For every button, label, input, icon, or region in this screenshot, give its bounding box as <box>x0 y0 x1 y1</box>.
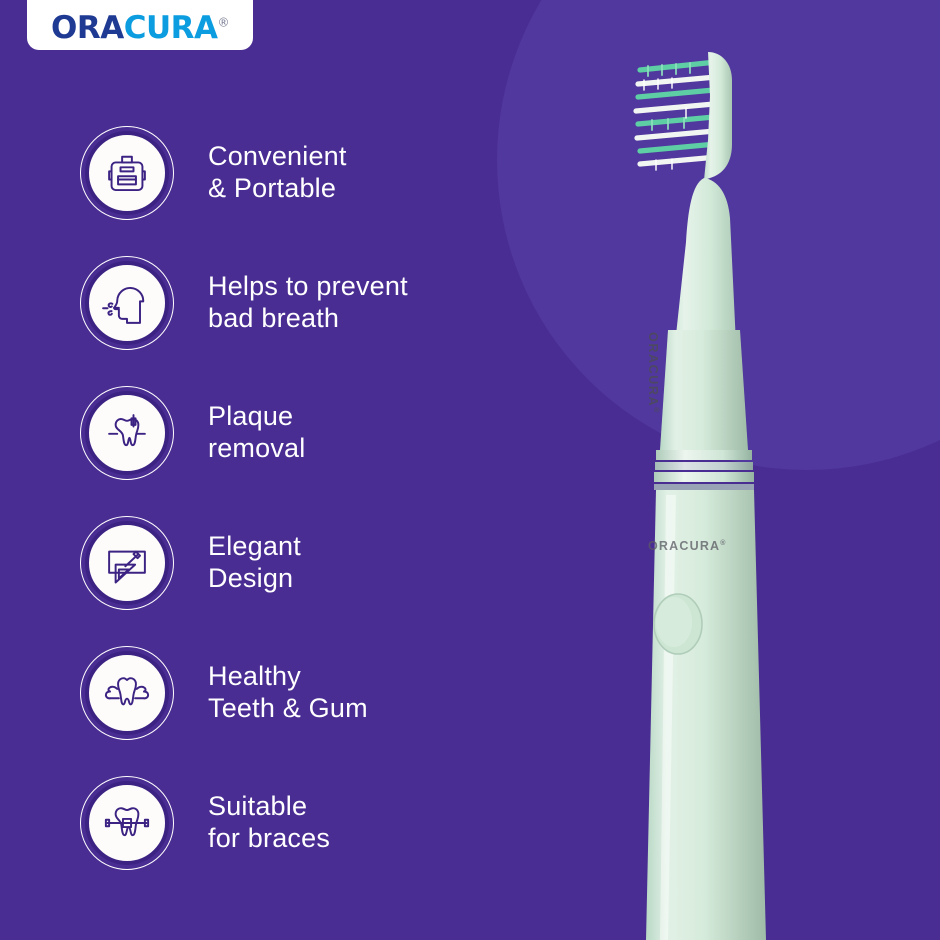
feature-item-suitable-for-braces: Suitable for braces <box>80 768 500 878</box>
feature-icon-wrap <box>80 126 174 220</box>
bristle-field <box>636 62 717 170</box>
brush-head-brand-label: ORACURA® <box>646 332 660 432</box>
icon-inner-disc <box>85 651 169 735</box>
feature-item-elegant-design: Elegant Design <box>80 508 500 618</box>
feature-label: Healthy Teeth & Gum <box>208 661 368 725</box>
drafting-triangle-design-icon <box>101 537 153 589</box>
icon-inner-disc <box>85 391 169 475</box>
brand-logo-badge: ORACURA® <box>27 0 253 50</box>
feature-label: Convenient & Portable <box>208 141 347 205</box>
registered-icon: ® <box>652 407 659 414</box>
power-button-inner <box>656 597 692 647</box>
feature-item-bad-breath: Helps to prevent bad breath <box>80 248 500 358</box>
feature-label: Elegant Design <box>208 531 301 595</box>
icon-inner-disc <box>85 781 169 865</box>
feature-label: Helps to prevent bad breath <box>208 271 408 335</box>
brush-handle-brand-label: ORACURA® <box>648 539 727 553</box>
tooth-scaler-plaque-icon <box>101 407 153 459</box>
feature-label: Plaque removal <box>208 401 305 465</box>
feature-label: Suitable for braces <box>208 791 330 855</box>
feature-icon-wrap <box>80 256 174 350</box>
toothbrush-illustration <box>600 0 830 940</box>
logo-registered-icon: ® <box>218 16 230 30</box>
brush-neck-taper <box>660 330 748 450</box>
feature-icon-wrap <box>80 516 174 610</box>
icon-inner-disc <box>85 261 169 345</box>
feature-icon-wrap <box>80 386 174 480</box>
backpack-icon <box>101 147 153 199</box>
feature-icon-wrap <box>80 646 174 740</box>
logo-part-cura: CURA <box>124 10 218 46</box>
feature-item-healthy-teeth-gum: Healthy Teeth & Gum <box>80 638 500 748</box>
tooth-braces-icon <box>101 797 153 849</box>
bad-breath-head-icon <box>101 277 153 329</box>
product-feature-poster: ORACURA® Conve <box>0 0 940 940</box>
product-toothbrush-image: ORACURA® ORACURA® <box>600 0 830 940</box>
registered-icon: ® <box>720 540 726 547</box>
brush-coupling-rings <box>654 450 754 490</box>
icon-inner-disc <box>85 131 169 215</box>
feature-list: Convenient & Portable Helps to prevent b… <box>80 118 500 898</box>
brand-logo-text: ORACURA® <box>51 13 229 44</box>
feature-icon-wrap <box>80 776 174 870</box>
tooth-flexing-arms-icon <box>101 667 153 719</box>
feature-item-convenient-portable: Convenient & Portable <box>80 118 500 228</box>
icon-inner-disc <box>85 521 169 605</box>
feature-item-plaque-removal: Plaque removal <box>80 378 500 488</box>
logo-part-ora: ORA <box>51 10 124 46</box>
